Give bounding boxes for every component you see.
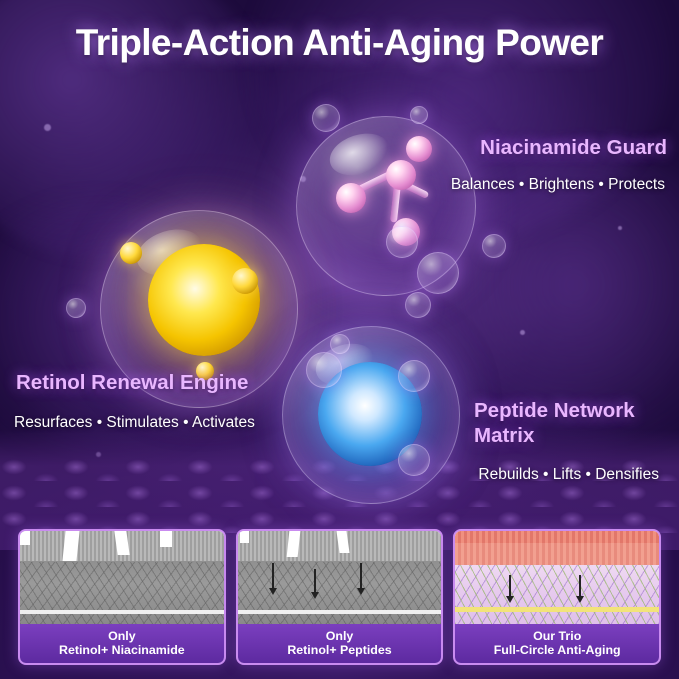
peptide-benefits: Rebuilds • Lifts • Densifies — [478, 466, 659, 484]
molecule-node — [386, 160, 416, 190]
retinol-pellet — [232, 268, 258, 294]
card-caption-our-trio: Our Trio Full-Circle Anti-Aging — [455, 624, 659, 663]
card-caption-line2: Full-Circle Anti-Aging — [457, 643, 657, 657]
retinol-core — [148, 244, 260, 356]
comparison-card-retinol-niacinamide[interactable]: Only Retinol+ Niacinamide — [18, 529, 226, 665]
comparison-card-our-trio[interactable]: Our Trio Full-Circle Anti-Aging — [453, 529, 661, 665]
floating-bubble — [405, 292, 431, 318]
decorative-dot — [618, 226, 622, 230]
inner-bubble — [398, 360, 430, 392]
floating-bubble — [417, 252, 459, 294]
decorative-dot — [44, 124, 51, 131]
upward-arrow-icon — [509, 575, 511, 597]
inner-bubble — [398, 444, 430, 476]
card-illustration-healthy-skin — [455, 531, 659, 624]
card-caption-retinol-niacinamide: Only Retinol+ Niacinamide — [20, 624, 224, 663]
decorative-dot — [520, 330, 525, 335]
inner-bubble — [306, 352, 342, 388]
card-caption-line2: Retinol+ Niacinamide — [22, 643, 222, 657]
card-caption-retinol-peptides: Only Retinol+ Peptides — [238, 624, 442, 663]
retinol-pellet — [120, 242, 142, 264]
card-caption-line2: Retinol+ Peptides — [240, 643, 440, 657]
peptide-heading-line1: Peptide Network — [474, 399, 635, 422]
molecule-node — [336, 183, 366, 213]
retinol-benefits: Resurfaces • Stimulates • Activates — [14, 414, 255, 432]
downward-arrow-icon — [360, 563, 362, 589]
niacinamide-benefits: Balances • Brightens • Protects — [451, 176, 665, 194]
comparison-card-retinol-peptides[interactable]: Only Retinol+ Peptides — [236, 529, 444, 665]
downward-arrow-icon — [272, 563, 274, 589]
peptide-heading-line2: Matrix — [474, 424, 534, 447]
card-caption-line1: Only — [108, 629, 136, 643]
card-caption-line1: Only — [326, 629, 354, 643]
card-illustration-deep-wrinkle — [20, 531, 224, 624]
floating-bubble — [482, 234, 506, 258]
decorative-dot — [300, 176, 306, 182]
downward-arrow-icon — [314, 569, 316, 593]
upward-arrow-icon — [579, 575, 581, 597]
card-caption-line1: Our Trio — [533, 629, 581, 643]
card-illustration-wrinkle-arrows — [238, 531, 442, 624]
page-title: Triple-Action Anti-Aging Power — [0, 22, 679, 64]
comparison-card-row: Only Retinol+ Niacinamide Only Retinol+ … — [18, 529, 661, 665]
inner-bubble — [330, 334, 350, 354]
niacinamide-heading: Niacinamide Guard — [480, 136, 667, 160]
floating-bubble — [312, 104, 340, 132]
inner-bubble — [386, 226, 418, 258]
peptide-heading: Peptide Network Matrix — [474, 398, 674, 448]
floating-bubble — [410, 106, 428, 124]
floating-bubble — [66, 298, 86, 318]
product-infographic: Triple-Action Anti-Aging Power Niacinami… — [0, 0, 679, 679]
retinol-heading: Retinol Renewal Engine — [16, 371, 248, 395]
molecule-node — [406, 136, 432, 162]
